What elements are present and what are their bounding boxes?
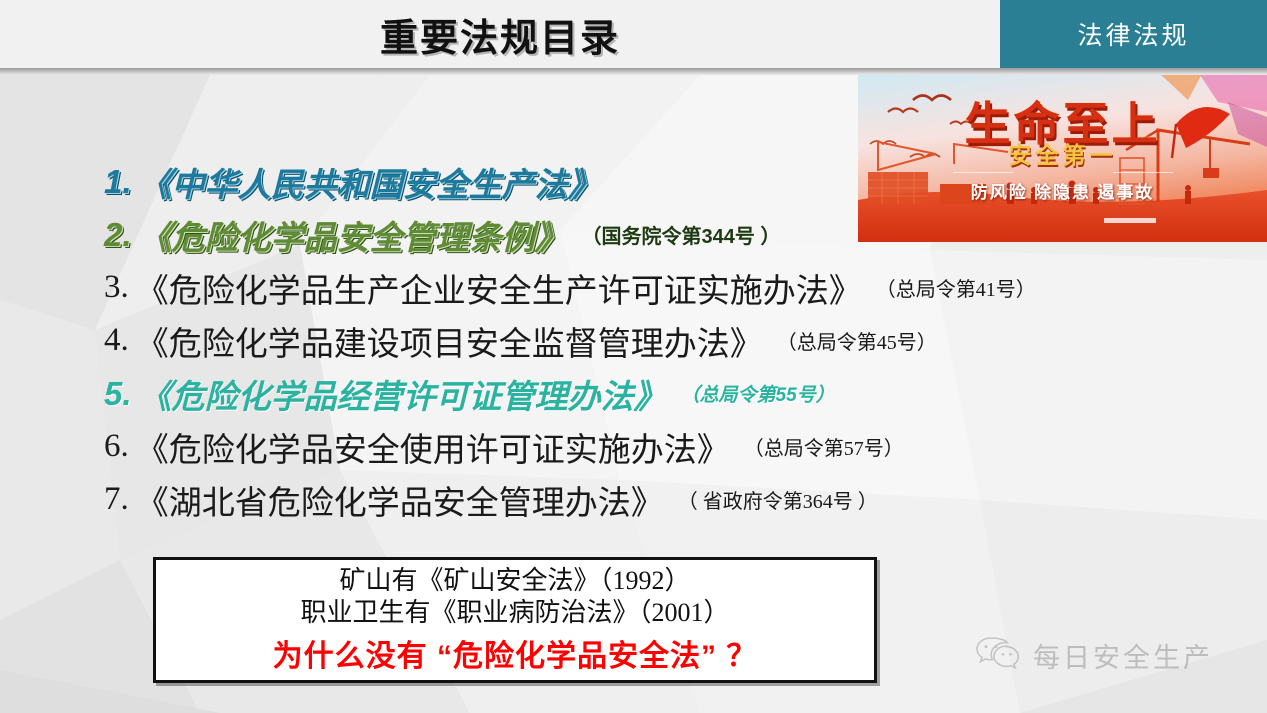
list-item-suffix: （总局令第45号） — [777, 326, 937, 355]
list-item-title: 《中华人民共和国安全生产法》 — [139, 158, 601, 206]
list-item-title-post: 实施办法》 — [565, 423, 730, 471]
banner-slogan: 防风险 除隐患 遏事故 — [858, 178, 1267, 203]
list-item-suffix: （总局令第55号） — [681, 380, 835, 407]
list-item-number: 2. — [104, 216, 132, 254]
list-item-title-pre: 《危险化学品生产企业安全 — [136, 264, 532, 312]
list-item-title: 《危险化学品安全管理条例》 — [139, 211, 568, 259]
callout-line-2: 职业卫生有《职业病防治法》（2001） — [300, 597, 729, 629]
section-tag: 法律法规 — [1000, 0, 1267, 68]
list-item: 4. 《危险化学品 建设项目 安全监督管理办法》 （总局令第45号） — [104, 314, 1224, 367]
list-item-suffix: （国务院令第344号 ） — [582, 220, 781, 249]
banner-rule-left — [953, 172, 1013, 173]
list-item-title-post: 安全监督管理办法》 — [466, 317, 763, 365]
banner-sub-text: 安全第一 — [858, 136, 1267, 170]
list-item: 5. 《危险化学品经营许可证管理办法》 （总局令第55号） — [104, 367, 1224, 420]
list-item-title: 《湖北省危险化学品安全管理办法》 — [136, 476, 664, 524]
list-item-suffix: （总局令第41号） — [876, 273, 1036, 302]
list-item-number: 3. — [104, 269, 129, 306]
page-title: 重要法规目录 — [0, 6, 1000, 62]
list-item-number: 6. — [104, 428, 129, 465]
wechat-icon — [975, 635, 1021, 676]
list-item-title-highlight: 建设项目 — [334, 317, 466, 365]
list-item-number: 7. — [104, 481, 129, 518]
header-shadow — [0, 68, 1267, 75]
safety-banner-image: 生命至上 安全第一 防风险 除隐患 遏事故 — [858, 72, 1267, 242]
list-item: 6. 《危险化学品安全 使用许可证 实施办法》 （总局令第57号） — [104, 420, 1224, 473]
list-item-title: 《危险化学品经营许可证管理办法》 — [139, 370, 667, 418]
list-item: 3. 《危险化学品生产企业安全 生产许可证 实施办法》 （总局令第41号） — [104, 261, 1224, 314]
list-item-number: 4. — [104, 322, 129, 359]
list-item-title-pre: 《危险化学品安全 — [136, 423, 400, 471]
banner-rule-right — [1113, 172, 1173, 173]
list-item-number: 1. — [104, 163, 132, 201]
wechat-icon-glyph — [975, 635, 1021, 671]
callout-line-1: 矿山有《矿山安全法》（1992） — [339, 565, 690, 597]
list-item: 7. 《湖北省危险化学品安全管理办法》 （ 省政府令第364号 ） — [104, 473, 1224, 526]
list-item-title-highlight: 生产许可证 — [532, 264, 697, 312]
list-item-title-post: 实施办法》 — [697, 264, 862, 312]
list-item-title-highlight: 使用许可证 — [400, 423, 565, 471]
list-item-number: 5. — [104, 375, 132, 413]
list-item-title-pre: 《危险化学品 — [136, 317, 334, 365]
callout-box: 矿山有《矿山安全法》（1992） 职业卫生有《职业病防治法》（2001） 为什么… — [153, 557, 877, 683]
watermark: 每日安全生产 — [975, 635, 1213, 676]
list-item-suffix: （ 省政府令第364号 ） — [678, 485, 878, 514]
list-item-suffix: （总局令第57号） — [744, 432, 904, 461]
callout-question: 为什么没有 “危险化学品安全法” ？ — [273, 631, 758, 675]
watermark-text: 每日安全生产 — [1033, 636, 1213, 675]
